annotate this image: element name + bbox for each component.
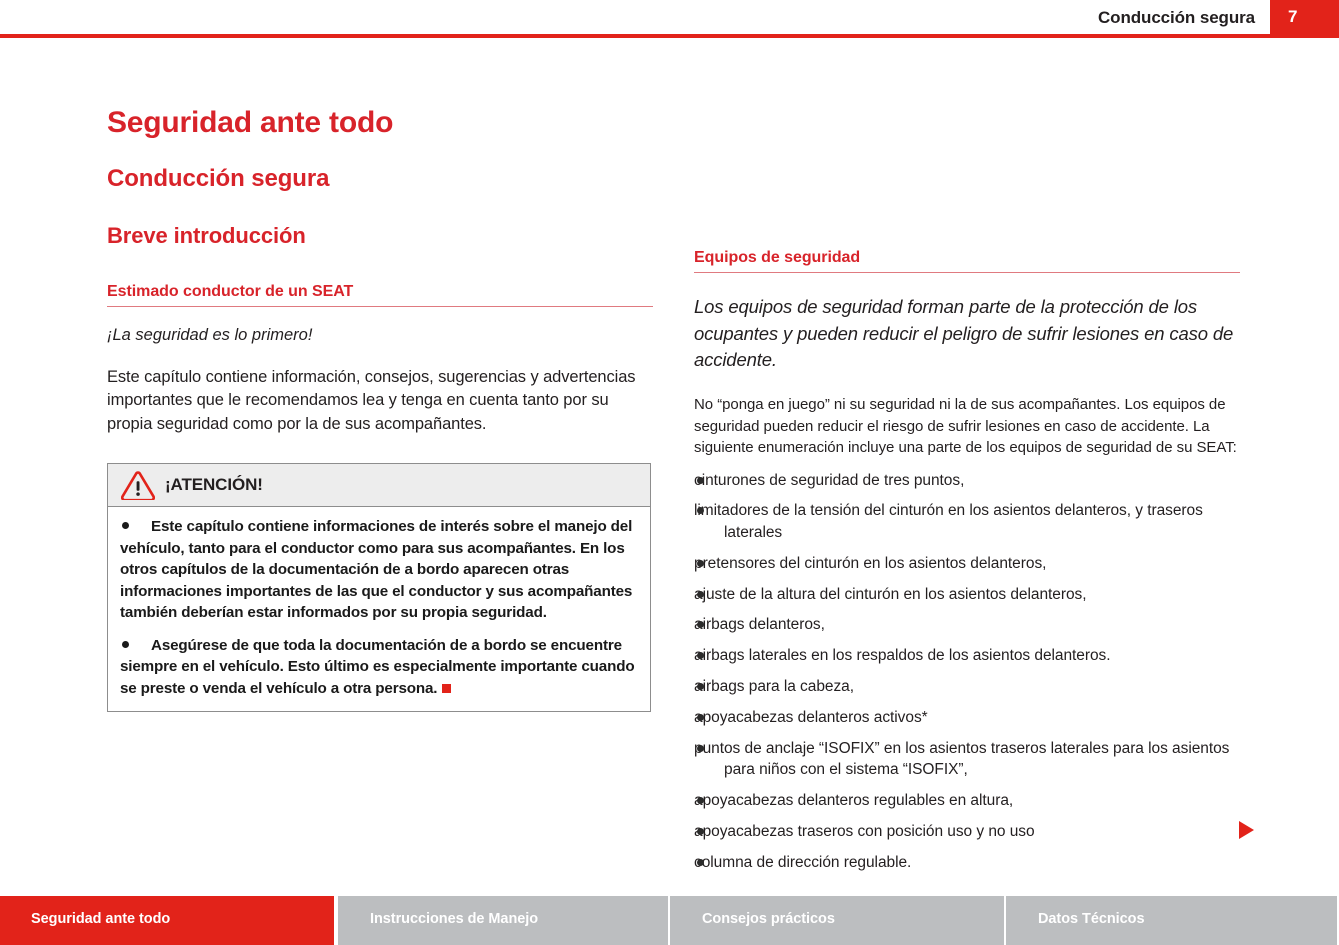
list-item-label: airbags para la cabeza, — [694, 678, 854, 695]
warning-box: ¡ATENCIÓN! Este capítulo contiene inform… — [107, 463, 651, 712]
list-item-label: columna de dirección regulable. — [694, 854, 911, 871]
left-column: Seguridad ante todo Conducción segura Br… — [107, 38, 653, 712]
chapter-title: Conducción segura — [107, 139, 653, 192]
warning-triangle-icon — [121, 471, 155, 500]
list-item-label: apoyacabezas delanteros regulables en al… — [694, 792, 1013, 809]
list-item: apoyacabezas traseros con posición uso y… — [694, 821, 1240, 842]
list-item-label: apoyacabezas delanteros activos* — [694, 709, 928, 726]
warning-item: Asegúrese de que toda la documentación d… — [120, 635, 638, 700]
bullet-icon — [697, 714, 704, 721]
left-body-paragraph: Este capítulo contiene información, cons… — [107, 347, 653, 436]
page-content: Seguridad ante todo Conducción segura Br… — [0, 38, 1339, 888]
footer-tab-consejos[interactable]: Consejos prácticos — [670, 896, 1004, 945]
bullet-icon — [697, 745, 704, 752]
list-item-label: limitadores de la tensión del cinturón e… — [694, 502, 1203, 540]
bullet-icon — [697, 591, 704, 598]
warning-box-title: ¡ATENCIÓN! — [165, 475, 263, 495]
end-of-notice-icon — [442, 684, 451, 693]
page-header: Conducción segura 7 — [0, 0, 1339, 34]
list-item-label: puntos de anclaje “ISOFIX” en los asient… — [694, 740, 1229, 778]
warning-item: Este capítulo contiene informaciones de … — [120, 516, 638, 624]
footer-tab-datos[interactable]: Datos Técnicos — [1006, 896, 1337, 945]
bullet-icon — [697, 828, 704, 835]
footer-tab-instrucciones[interactable]: Instrucciones de Manejo — [338, 896, 668, 945]
left-lead-text: ¡La seguridad es lo primero! — [107, 307, 653, 347]
bullet-icon — [697, 560, 704, 567]
bullet-icon — [697, 477, 704, 484]
right-body-paragraph: No “ponga en juego” ni su seguridad ni l… — [694, 373, 1240, 458]
safety-equipment-list: cinturones de seguridad de tres puntos, … — [694, 459, 1240, 874]
list-item-label: airbags laterales en los respaldos de lo… — [694, 647, 1111, 664]
list-item-label: apoyacabezas traseros con posición uso y… — [694, 823, 1035, 840]
right-lead-text: Los equipos de seguridad forman parte de… — [694, 273, 1240, 373]
list-item: ajuste de la altura del cinturón en los … — [694, 584, 1240, 605]
right-subsection-title: Equipos de seguridad — [694, 249, 1240, 273]
list-item-label: pretensores del cinturón en los asientos… — [694, 555, 1046, 572]
footer-tab-seguridad[interactable]: Seguridad ante todo — [0, 896, 334, 945]
footer-tabs: Seguridad ante todo Instrucciones de Man… — [0, 896, 1339, 945]
list-item: columna de dirección regulable. — [694, 852, 1240, 873]
list-item: airbags para la cabeza, — [694, 676, 1240, 697]
page-number: 7 — [1288, 7, 1297, 27]
warning-item-text: Asegúrese de que toda la documentación d… — [120, 637, 634, 697]
right-column: Equipos de seguridad Los equipos de segu… — [694, 38, 1240, 883]
list-item-label: cinturones de seguridad de tres puntos, — [694, 472, 964, 489]
list-item-label: ajuste de la altura del cinturón en los … — [694, 586, 1087, 603]
list-item: cinturones de seguridad de tres puntos, — [694, 470, 1240, 491]
warning-box-body: Este capítulo contiene informaciones de … — [108, 507, 650, 711]
page-number-badge: 7 — [1270, 0, 1339, 34]
list-item-label: airbags delanteros, — [694, 616, 825, 633]
list-item: puntos de anclaje “ISOFIX” en los asient… — [694, 738, 1240, 781]
warning-box-header: ¡ATENCIÓN! — [108, 464, 650, 507]
section-title: Breve introducción — [107, 192, 653, 248]
list-item: apoyacabezas delanteros regulables en al… — [694, 790, 1240, 811]
list-item: airbags laterales en los respaldos de lo… — [694, 645, 1240, 666]
subsection-title: Estimado conductor de un SEAT — [107, 249, 653, 307]
list-item: pretensores del cinturón en los asientos… — [694, 553, 1240, 574]
header-title: Conducción segura — [1098, 8, 1255, 28]
warning-item-text: Este capítulo contiene informaciones de … — [120, 518, 632, 621]
bullet-icon — [697, 859, 704, 866]
bullet-icon — [122, 522, 129, 529]
list-item: airbags delanteros, — [694, 614, 1240, 635]
continue-arrow-icon[interactable] — [1239, 821, 1254, 839]
list-item: limitadores de la tensión del cinturón e… — [694, 500, 1240, 543]
list-item: apoyacabezas delanteros activos* — [694, 707, 1240, 728]
page-title: Seguridad ante todo — [107, 38, 653, 139]
bullet-icon — [122, 641, 129, 648]
